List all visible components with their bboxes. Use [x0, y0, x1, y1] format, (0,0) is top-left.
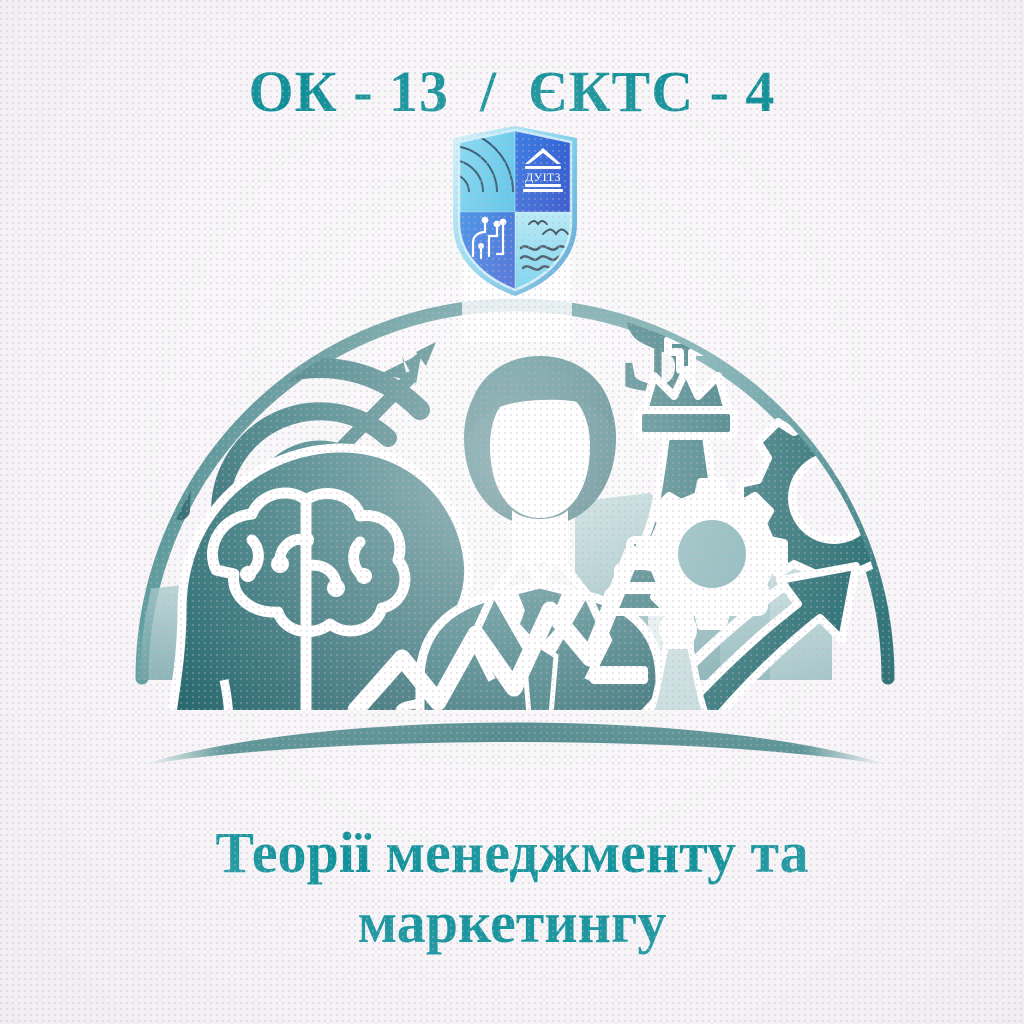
discipline-name: Теорії менеджменту та маркетингу: [0, 818, 1024, 958]
emblem-abbreviation: ДУІТЗ: [525, 170, 561, 184]
university-shield-emblem: ДУІТЗ: [445, 126, 585, 296]
course-code-title: ОК - 13 / ЄКТС - 4: [0, 58, 1024, 125]
curved-swoosh-base: [138, 723, 892, 767]
